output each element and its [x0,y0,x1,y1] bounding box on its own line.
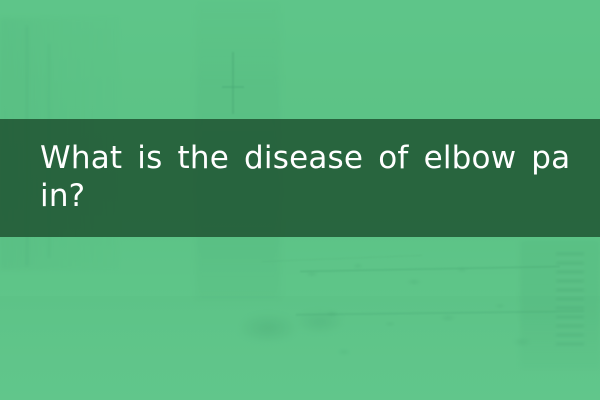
question-title: What is the disease of elbow pa in? [0,119,598,215]
question-card-screenshot: What is the disease of elbow pa in? [0,0,600,400]
caption-band: What is the disease of elbow pa in? [0,119,600,237]
